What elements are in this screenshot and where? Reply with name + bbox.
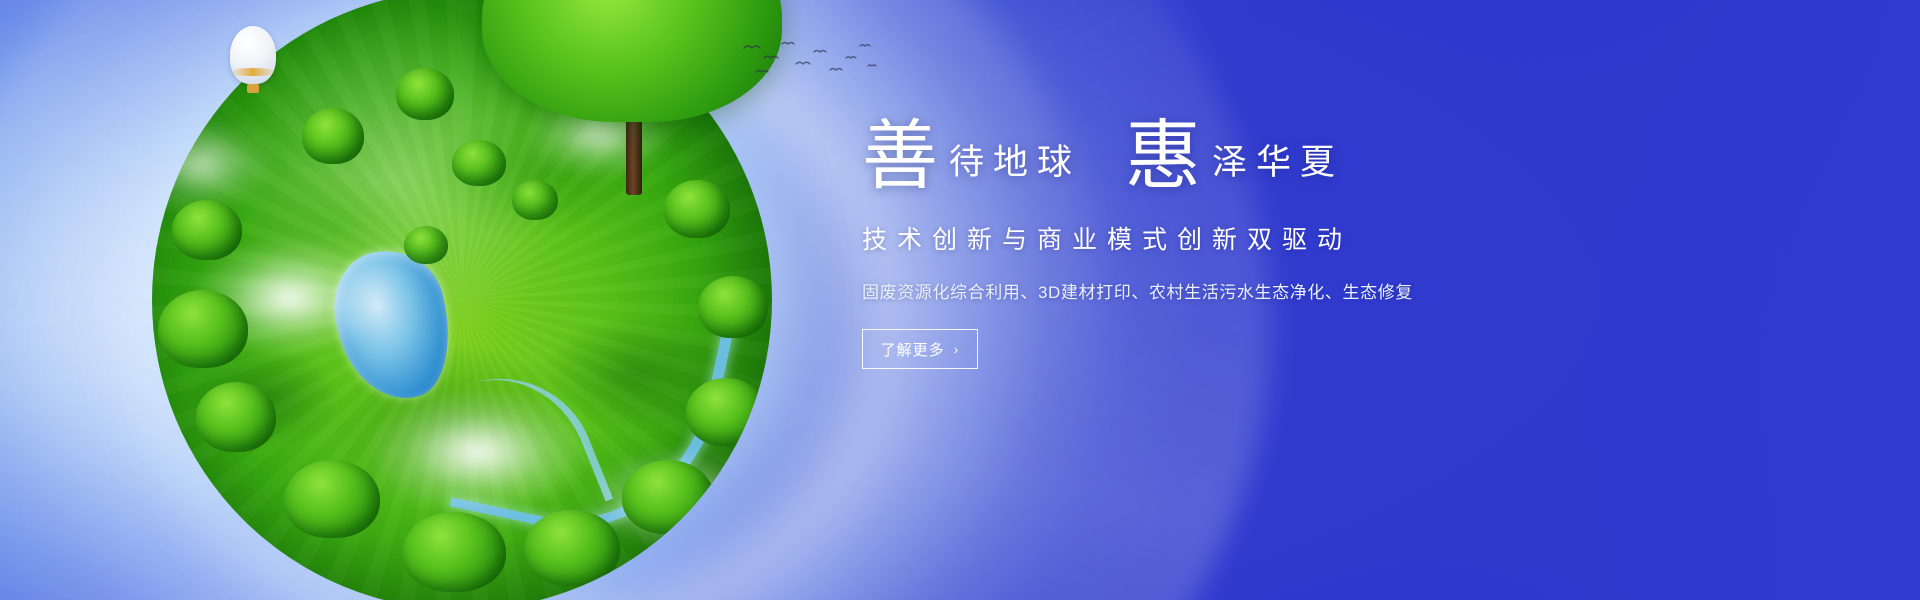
headline-text-2: 泽华夏 bbox=[1212, 143, 1344, 183]
tree-icon bbox=[402, 512, 506, 592]
birds-icon bbox=[740, 38, 880, 84]
learn-more-label: 了解更多 bbox=[881, 339, 945, 360]
tree-icon bbox=[524, 510, 620, 586]
tree-icon bbox=[284, 460, 380, 538]
headline-text-1: 待地球 bbox=[949, 143, 1081, 183]
tree-icon bbox=[698, 276, 768, 338]
page-subtitle: 技术创新与商业模式创新双驱动 bbox=[862, 220, 1722, 256]
tree-icon bbox=[172, 200, 242, 260]
tree-icon bbox=[452, 140, 506, 186]
banner-content: 善待地球惠泽华夏 技术创新与商业模式创新双驱动 固废资源化综合利用、3D建材打印… bbox=[862, 118, 1722, 369]
tree-icon bbox=[396, 68, 454, 120]
headline-char-primary-1: 善 bbox=[862, 111, 939, 200]
tree-icon bbox=[664, 180, 730, 238]
tree-icon bbox=[512, 180, 558, 220]
tree-icon bbox=[196, 382, 276, 452]
tree-icon bbox=[622, 460, 714, 534]
learn-more-button[interactable]: 了解更多 › bbox=[862, 329, 978, 369]
cloud-patch-icon bbox=[363, 387, 593, 517]
tree-icon bbox=[404, 226, 448, 264]
headline-char-primary-2: 惠 bbox=[1125, 111, 1202, 200]
chevron-right-icon: › bbox=[954, 342, 960, 356]
tiny-planet-globe bbox=[152, 0, 772, 600]
tree-icon bbox=[686, 378, 766, 446]
hero-banner: 善待地球惠泽华夏 技术创新与商业模式创新双驱动 固废资源化综合利用、3D建材打印… bbox=[0, 0, 1920, 600]
tree-icon bbox=[158, 290, 248, 368]
tree-icon bbox=[302, 108, 364, 164]
balloon-stripe bbox=[230, 68, 276, 76]
page-title: 善待地球惠泽华夏 bbox=[862, 118, 1722, 194]
service-description: 固废资源化综合利用、3D建材打印、农村生活污水生态净化、生态修复 bbox=[862, 278, 1722, 303]
